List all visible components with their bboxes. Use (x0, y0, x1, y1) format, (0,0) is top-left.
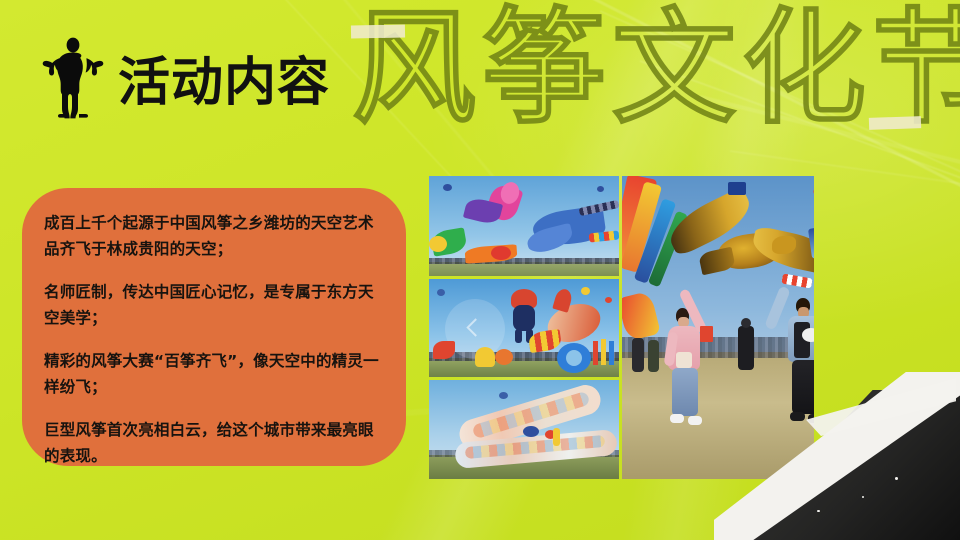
photo-column-left (429, 176, 619, 479)
content-paragraph-3: 精彩的风筝大赛“百筝齐飞”，像天空中的精灵一样纷飞； (44, 348, 380, 400)
content-paragraph-2: 名师匠制，传达中国匠心记忆，是专属于东方天空美学； (44, 279, 380, 331)
bodybuilder-icon (42, 28, 104, 120)
light-streak (700, 95, 960, 179)
kite-photo-colorful-fish-kites (429, 176, 619, 276)
kite-photo-couple-with-eagle-kite (622, 176, 814, 479)
kite-photo-giant-tube-kites (429, 380, 619, 479)
brush-speck (895, 477, 898, 480)
page-title: 活动内容 (118, 39, 330, 109)
tape-top-left (351, 25, 405, 39)
brush-speck (862, 496, 864, 498)
content-card: 成百上千个起源于中国风筝之乡潍坊的天空艺术品齐飞于林成贵阳的天空； 名师匠制，传… (22, 188, 406, 466)
slide-canvas: 风筝文化节 (0, 0, 960, 540)
content-paragraph-1: 成百上千个起源于中国风筝之乡潍坊的天空艺术品齐飞于林成贵阳的天空； (44, 210, 380, 262)
page-header: 活动内容 (42, 28, 330, 120)
tape-top-right (869, 116, 921, 130)
photo-collage (429, 176, 814, 479)
brush-speck (817, 510, 820, 512)
kite-photo-balloon-kites (429, 279, 619, 378)
light-streak (600, 10, 960, 203)
content-paragraph-4: 巨型风筝首次亮相白云，给这个城市带来最亮眼的表现。 (44, 417, 380, 469)
